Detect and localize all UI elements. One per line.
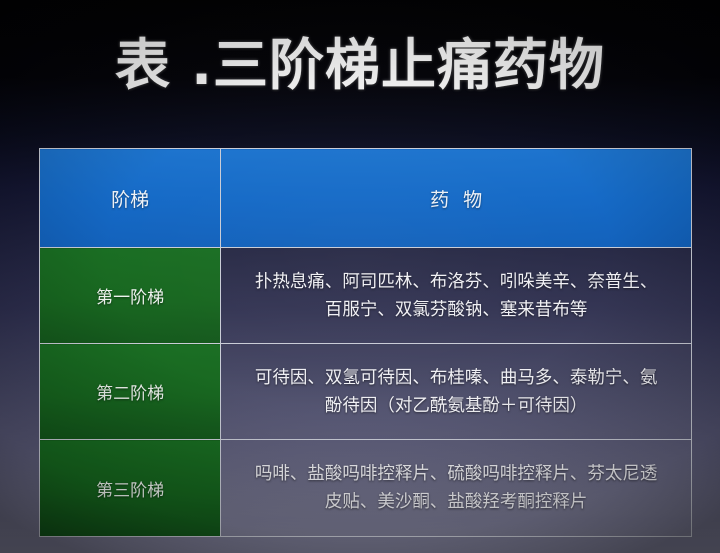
header-label-drugs-char1: 药 [430,189,463,211]
step-cell-2: 第二阶梯 [40,344,221,440]
drugs-cell-1: 扑热息痛、阿司匹林、布洛芬、吲哚美辛、奈普生、 百服宁、双氯芬酸钠、塞来昔布等 [221,248,692,344]
header-label-drugs-char2: 物 [463,189,496,211]
drugs-line-3a: 吗啡、盐酸吗啡控释片、硫酸吗啡控释片、芬太尼透 [221,460,691,488]
drugs-line-1b: 百服宁、双氯芬酸钠、塞来昔布等 [221,296,691,324]
drugs-line-3b: 皮贴、美沙酮、盐酸羟考酮控释片 [221,488,691,516]
table-header-row: 阶梯 药物 [40,149,692,248]
step-cell-3: 第三阶梯 [40,440,221,537]
page-title: 表 .三阶梯止痛药物 [0,34,720,96]
header-cell-step: 阶梯 [40,149,221,248]
table-row: 第三阶梯 吗啡、盐酸吗啡控释片、硫酸吗啡控释片、芬太尼透 皮贴、美沙酮、盐酸羟考… [40,440,692,537]
step-label-1: 第一阶梯 [96,288,164,308]
drugs-line-2a: 可待因、双氢可待因、布桂嗪、曲马多、泰勒宁、氨 [221,364,691,392]
header-cell-drugs: 药物 [221,149,692,248]
step-cell-1: 第一阶梯 [40,248,221,344]
table-row: 第一阶梯 扑热息痛、阿司匹林、布洛芬、吲哚美辛、奈普生、 百服宁、双氯芬酸钠、塞… [40,248,692,344]
drugs-cell-3: 吗啡、盐酸吗啡控释片、硫酸吗啡控释片、芬太尼透 皮贴、美沙酮、盐酸羟考酮控释片 [221,440,692,537]
three-step-analgesic-table: 阶梯 药物 第一阶梯 扑热息痛、阿司匹林、布洛芬、吲哚美辛、奈普生、 百服宁、双… [39,148,692,537]
drugs-cell-2: 可待因、双氢可待因、布桂嗪、曲马多、泰勒宁、氨 酚待因（对乙酰氨基酚＋可待因） [221,344,692,440]
table-row: 第二阶梯 可待因、双氢可待因、布桂嗪、曲马多、泰勒宁、氨 酚待因（对乙酰氨基酚＋… [40,344,692,440]
header-label-step: 阶梯 [111,189,149,211]
slide-canvas: 表 .三阶梯止痛药物 阶梯 药物 第一阶梯 扑热息痛、阿司匹林、布洛芬、吲哚美辛… [0,0,720,553]
step-label-2: 第二阶梯 [96,384,164,404]
drugs-line-2b: 酚待因（对乙酰氨基酚＋可待因） [221,392,691,420]
header-label-drugs: 药物 [416,189,496,211]
step-label-3: 第三阶梯 [96,481,164,501]
drugs-line-1a: 扑热息痛、阿司匹林、布洛芬、吲哚美辛、奈普生、 [221,268,691,296]
